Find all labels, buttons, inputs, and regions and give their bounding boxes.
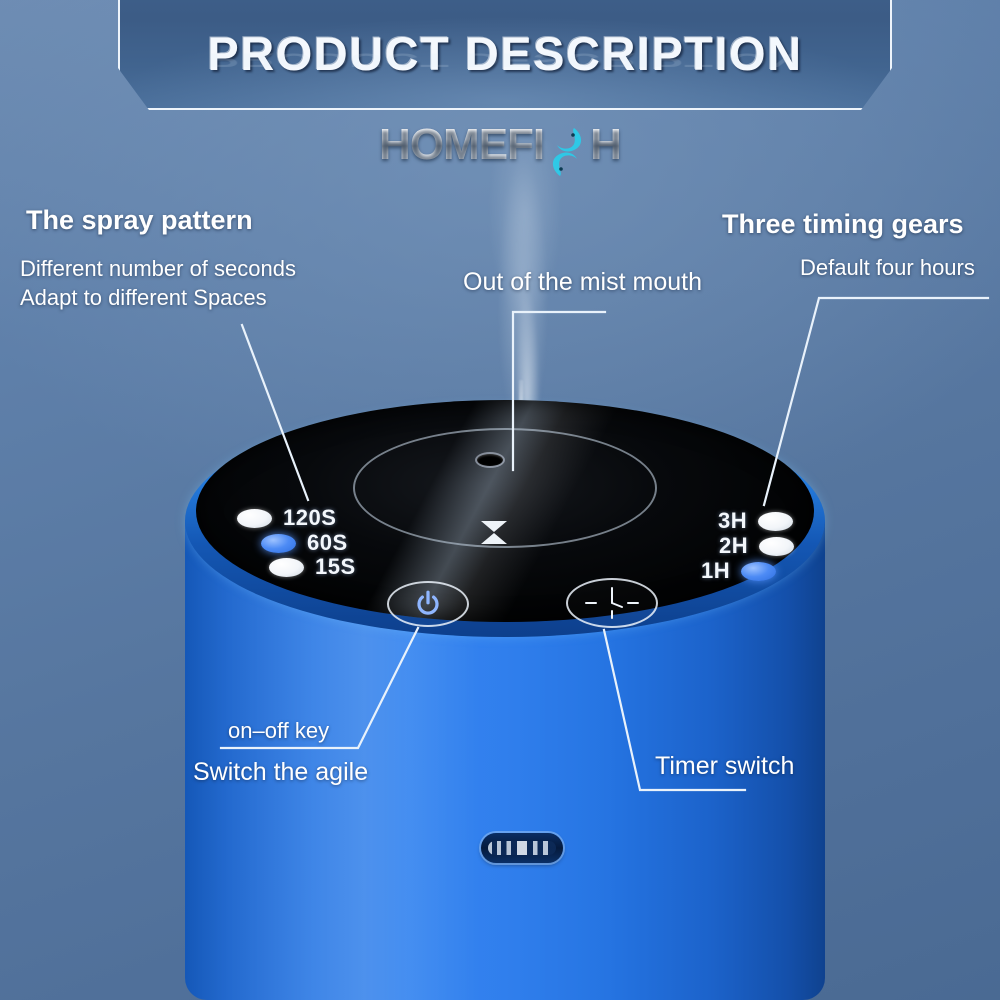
spray-mode-label: 60S xyxy=(307,530,348,556)
timer-mode-2h[interactable]: 2H xyxy=(719,533,794,559)
header-banner: PRODUCT DESCRIPTION PRODUCT DESCRIPTION xyxy=(118,0,892,110)
annotation-timing-sub: Default four hours xyxy=(800,253,975,282)
indicator-dot-active xyxy=(261,534,296,553)
spray-mode-label: 120S xyxy=(283,505,336,531)
mist-outlet xyxy=(477,454,503,466)
annotation-spray-line2: Adapt to different Spaces xyxy=(20,283,296,312)
spray-mode-15s[interactable]: 15S xyxy=(269,554,356,580)
indicator-dot xyxy=(269,558,304,577)
indicator-dot xyxy=(758,512,793,531)
page-title: PRODUCT DESCRIPTION xyxy=(120,26,890,81)
annotation-timer-label: Timer switch xyxy=(655,752,794,781)
annotation-power-label: on–off key xyxy=(228,716,329,745)
indicator-dot xyxy=(237,509,272,528)
spray-mode-label: 15S xyxy=(315,554,356,580)
product-description-image: PRODUCT DESCRIPTION PRODUCT DESCRIPTION … xyxy=(0,0,1000,1000)
annotation-timing-heading: Three timing gears xyxy=(722,209,964,240)
brand-logo: HOMEFIH xyxy=(0,120,1000,180)
annotation-power-sub: Switch the agile xyxy=(193,758,368,787)
fish-icon xyxy=(544,124,590,180)
brand-name-part1: HOMEFI xyxy=(379,120,544,170)
timer-mode-label: 3H xyxy=(718,508,747,534)
spray-mode-120s[interactable]: 120S xyxy=(237,505,336,531)
timer-mode-1h[interactable]: 1H xyxy=(701,558,776,584)
spray-mode-60s[interactable]: 60S xyxy=(261,530,348,556)
brand-name-part2: H xyxy=(590,120,621,170)
power-button[interactable] xyxy=(387,581,469,627)
indicator-dot xyxy=(759,537,794,556)
annotation-mist-label: Out of the mist mouth xyxy=(463,268,702,297)
timer-button[interactable] xyxy=(566,578,658,628)
annotation-spray-heading: The spray pattern xyxy=(26,205,253,236)
power-icon xyxy=(413,589,443,619)
annotation-spray-line1: Different number of seconds xyxy=(20,254,296,283)
usb-c-port xyxy=(481,833,563,863)
clock-icon xyxy=(583,586,641,620)
indicator-dot-active xyxy=(741,562,776,581)
timer-mode-label: 2H xyxy=(719,533,748,559)
annotation-spray-sub: Different number of seconds Adapt to dif… xyxy=(20,254,296,312)
usb-contacts xyxy=(488,841,556,855)
timer-mode-3h[interactable]: 3H xyxy=(718,508,793,534)
timer-mode-label: 1H xyxy=(701,558,730,584)
